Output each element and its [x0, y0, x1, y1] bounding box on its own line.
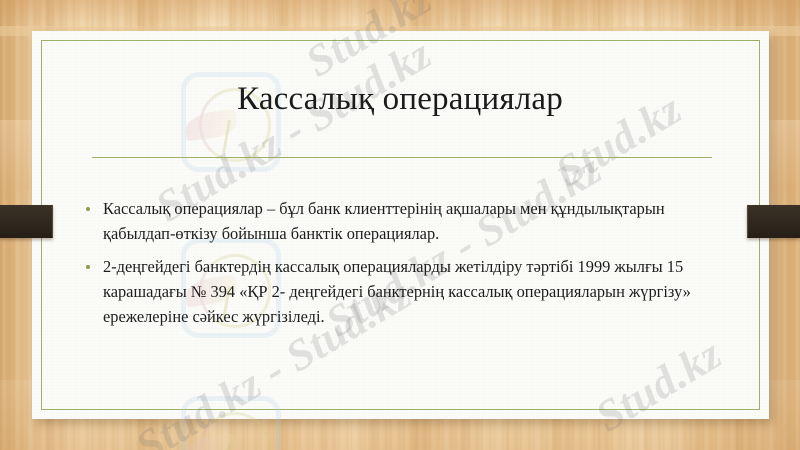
list-item-text: Кассалық операциялар – бұл банк клиентте… [103, 196, 711, 246]
title-divider [92, 157, 712, 158]
right-ribbon-tab [747, 205, 800, 238]
list-item-text: 2-деңгейдегі банктердің кассалық операци… [103, 254, 711, 329]
bullet-dot-icon [86, 265, 90, 269]
bullet-dot-icon [86, 207, 90, 211]
left-ribbon-tab [0, 205, 53, 238]
page-title: Кассалық операциялар [60, 78, 740, 120]
presentation-slide: Stud.kz - Stud.kzStud.kz - Stud.kzStud.k… [0, 0, 800, 450]
list-item: Кассалық операциялар – бұл банк клиентте… [86, 196, 711, 246]
bullet-list: Кассалық операциялар – бұл банк клиентте… [86, 196, 711, 337]
list-item: 2-деңгейдегі банктердің кассалық операци… [86, 254, 711, 329]
title-block: Кассалық операциялар [60, 78, 740, 120]
